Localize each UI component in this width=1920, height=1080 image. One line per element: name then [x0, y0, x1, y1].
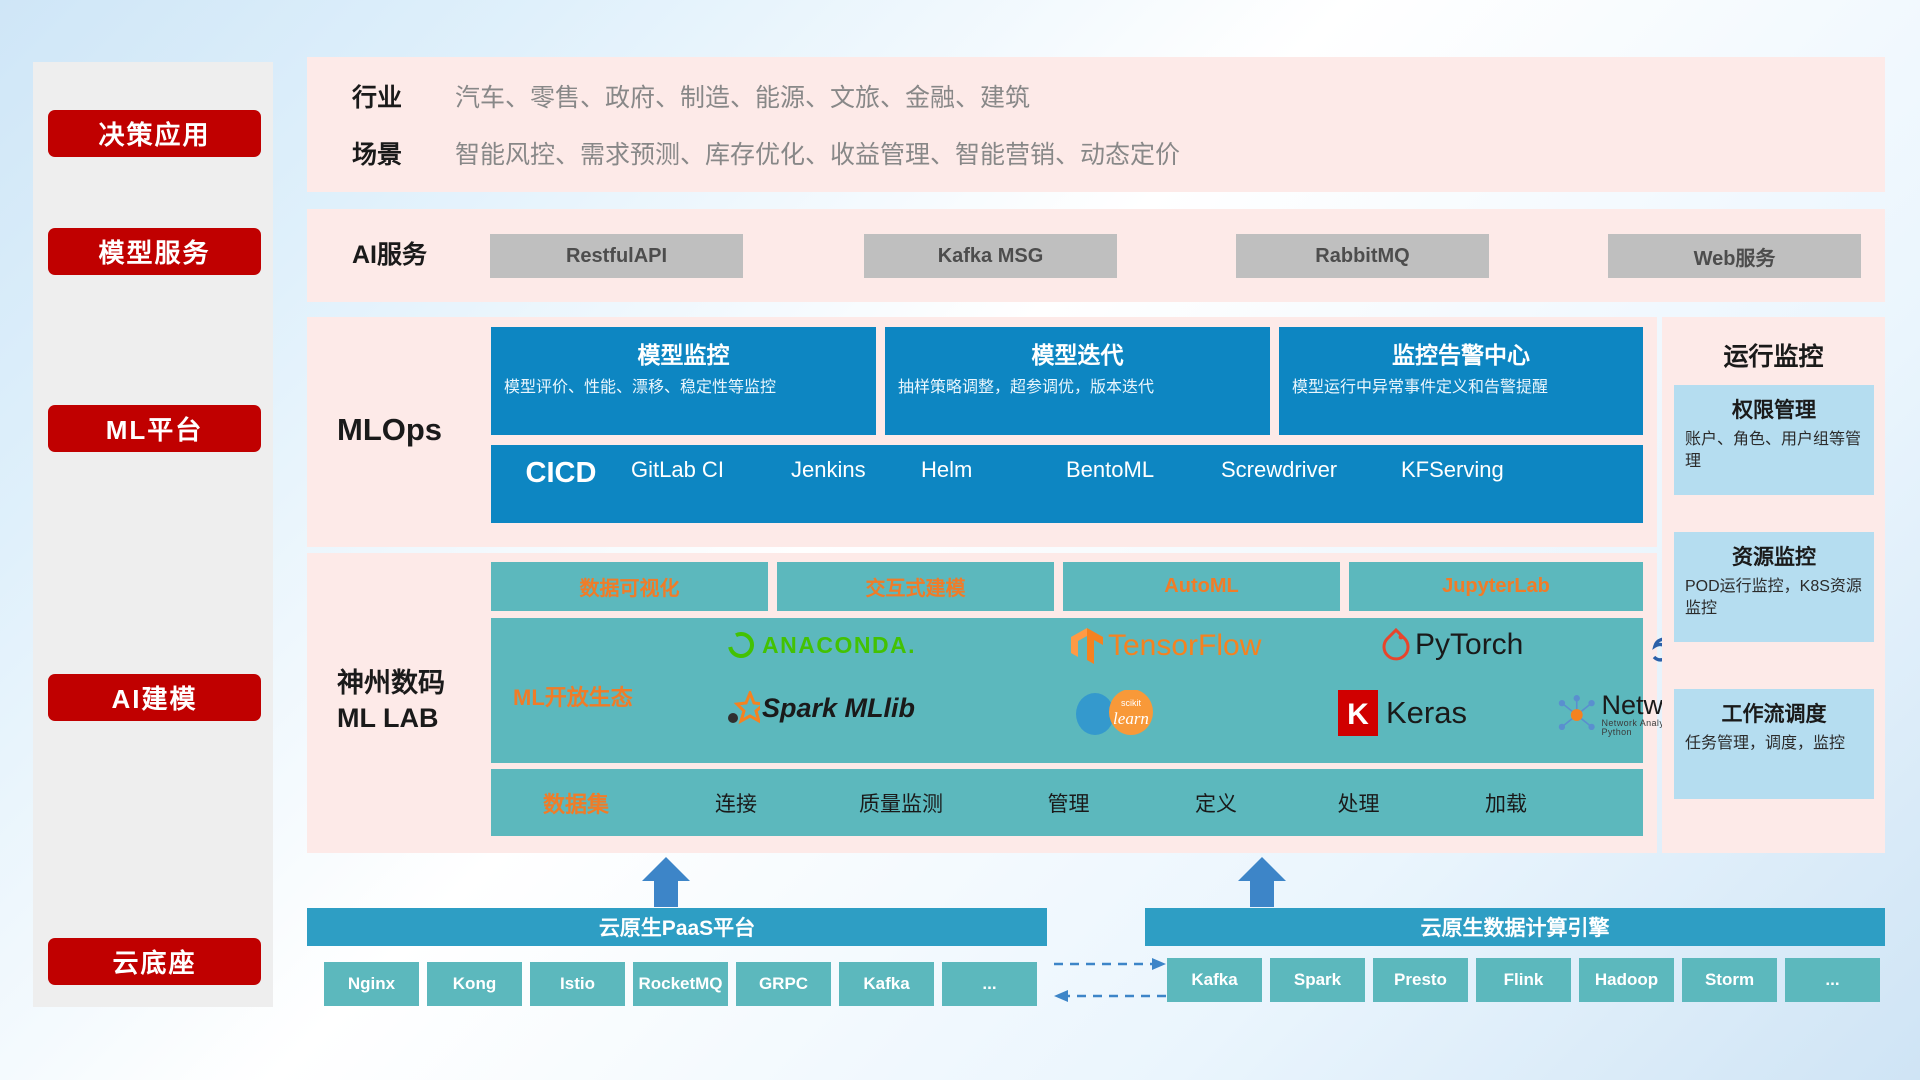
card-title: 监控告警中心 [1292, 336, 1630, 370]
dataset-item-load[interactable]: 加载 [1431, 788, 1581, 818]
ai-service-button-rabbitmq[interactable]: RabbitMQ [1236, 234, 1489, 278]
ml-lab-label-line1: 神州数码 [337, 666, 445, 701]
ml-lab-label-line2: ML LAB [337, 701, 445, 736]
dataset-title: 数据集 [491, 787, 661, 819]
scenario-label: 场景 [352, 136, 402, 175]
card-desc: 模型运行中异常事件定义和告警提醒 [1292, 377, 1630, 400]
ai-service-button-restfulapi[interactable]: RestfulAPI [490, 234, 743, 278]
card-title: 权限管理 [1685, 394, 1863, 424]
monitoring-card-permission[interactable]: 权限管理 账户、角色、用户组等管理 [1674, 385, 1874, 495]
ecosystem-title: ML开放生态 [513, 680, 633, 712]
monitoring-card-workflow[interactable]: 工作流调度 任务管理，调度，监控 [1674, 689, 1874, 799]
chip-label: 交互式建模 [866, 572, 966, 601]
paas-chip-more[interactable]: ... [942, 962, 1037, 1006]
engine-chip-hadoop[interactable]: Hadoop [1579, 958, 1674, 1002]
ml-ecosystem-band: ML开放生态 ANACONDA. TensorFlow [491, 618, 1643, 763]
engine-chip-storm[interactable]: Storm [1682, 958, 1777, 1002]
spark-mllib-label: Spark MLlib [762, 693, 915, 724]
ai-service-panel: AI服务 RestfulAPI Kafka MSG RabbitMQ Web服务 [307, 209, 1885, 302]
monitoring-title: 运行监控 [1662, 337, 1885, 373]
dataset-item-quality[interactable]: 质量监测 [811, 788, 991, 818]
tool-chip-jupyterlab[interactable]: JupyterLab [1349, 562, 1643, 611]
button-label: Web服务 [1694, 242, 1776, 271]
monitoring-card-resource[interactable]: 资源监控 POD运行监控，K8S资源监控 [1674, 532, 1874, 642]
stage-chip-decision[interactable]: 决策应用 [48, 110, 261, 157]
svg-text:scikit: scikit [1121, 698, 1141, 708]
card-desc: 模型评价、性能、漂移、稳定性等监控 [504, 377, 863, 400]
cicd-item-bentoml[interactable]: BentoML [1066, 457, 1221, 482]
ai-service-label: AI服务 [352, 236, 427, 275]
keras-logo: K Keras [1336, 688, 1467, 738]
arrow-up-paas-icon [640, 855, 692, 907]
card-title: 模型迭代 [898, 336, 1257, 370]
anaconda-label: ANACONDA. [762, 632, 916, 659]
paas-chip-grpc[interactable]: GRPC [736, 962, 831, 1006]
stage-label: 云底座 [112, 943, 196, 980]
industry-label: 行业 [352, 79, 402, 118]
paas-bar[interactable]: 云原生PaaS平台 [307, 908, 1047, 946]
stage-chip-ai-modeling[interactable]: AI建模 [48, 674, 261, 721]
mlops-card-model-monitoring[interactable]: 模型监控 模型评价、性能、漂移、稳定性等监控 [491, 327, 876, 435]
stage-label: 模型服务 [98, 233, 210, 270]
stage-rail [33, 62, 273, 1007]
cicd-item-jenkins[interactable]: Jenkins [791, 457, 921, 482]
cicd-item-helm[interactable]: Helm [921, 457, 1066, 482]
tensorflow-label: TensorFlow [1108, 629, 1261, 663]
stage-label: 决策应用 [98, 115, 210, 152]
pytorch-label: PyTorch [1415, 628, 1523, 662]
scenario-text: 智能风控、需求预测、库存优化、收益管理、智能营销、动态定价 [455, 136, 1180, 175]
dataset-item-manage[interactable]: 管理 [991, 788, 1146, 818]
mlops-card-alert-center[interactable]: 监控告警中心 模型运行中异常事件定义和告警提醒 [1279, 327, 1643, 435]
cicd-item-kfserving[interactable]: KFServing [1401, 457, 1551, 482]
svg-text:K: K [1347, 698, 1369, 731]
cicd-item-gitlab-ci[interactable]: GitLab CI [631, 457, 791, 482]
paas-chip-rocketmq[interactable]: RocketMQ [633, 962, 728, 1006]
industry-text: 汽车、零售、政府、制造、能源、文旅、金融、建筑 [455, 79, 1030, 118]
stage-label: AI建模 [111, 679, 197, 716]
tool-chip-automl[interactable]: AutoML [1063, 562, 1340, 611]
architecture-diagram: 决策应用 模型服务 ML平台 AI建模 云底座 行业 汽车、零售、政府、制造、能… [0, 0, 1920, 1080]
button-label: RabbitMQ [1315, 245, 1409, 268]
tool-chip-interactive-modeling[interactable]: 交互式建模 [777, 562, 1054, 611]
stage-chip-ml-platform[interactable]: ML平台 [48, 405, 261, 452]
chip-label: 数据可视化 [580, 572, 680, 601]
mlops-card-model-iteration[interactable]: 模型迭代 抽样策略调整，超参调优，版本迭代 [885, 327, 1270, 435]
paas-chip-kong[interactable]: Kong [427, 962, 522, 1006]
engine-bar[interactable]: 云原生数据计算引擎 [1145, 908, 1885, 946]
ai-service-button-web[interactable]: Web服务 [1608, 234, 1861, 278]
bar-label: 云原生PaaS平台 [599, 912, 755, 942]
chip-label: JupyterLab [1442, 575, 1550, 598]
stage-chip-cloud-base[interactable]: 云底座 [48, 938, 261, 985]
engine-chip-flink[interactable]: Flink [1476, 958, 1571, 1002]
card-title: 模型监控 [504, 336, 863, 370]
bar-label: 云原生数据计算引擎 [1421, 912, 1610, 942]
chip-label: AutoML [1164, 575, 1238, 598]
card-title: 资源监控 [1685, 541, 1863, 571]
dataset-band: 数据集 连接 质量监测 管理 定义 处理 加载 [491, 769, 1643, 836]
monitoring-panel: 运行监控 权限管理 账户、角色、用户组等管理 资源监控 POD运行监控，K8S资… [1662, 317, 1885, 853]
svg-text:learn: learn [1113, 709, 1149, 728]
cicd-item-screwdriver[interactable]: Screwdriver [1221, 457, 1401, 482]
pytorch-logo: PyTorch [1381, 628, 1523, 662]
business-panel: 行业 汽车、零售、政府、制造、能源、文旅、金融、建筑 场景 智能风控、需求预测、… [307, 57, 1885, 192]
card-desc: 任务管理，调度，监控 [1685, 733, 1863, 755]
card-desc: 账户、角色、用户组等管理 [1685, 429, 1863, 474]
paas-chip-nginx[interactable]: Nginx [324, 962, 419, 1006]
mlops-label: MLOps [337, 412, 442, 448]
stage-label: ML平台 [106, 410, 204, 447]
dashed-connector-arrows [1050, 950, 1170, 1010]
paas-chip-istio[interactable]: Istio [530, 962, 625, 1006]
tool-chip-data-visualization[interactable]: 数据可视化 [491, 562, 768, 611]
engine-chip-kafka[interactable]: Kafka [1167, 958, 1262, 1002]
ml-lab-label: 神州数码 ML LAB [337, 666, 445, 736]
paas-chip-kafka[interactable]: Kafka [839, 962, 934, 1006]
anaconda-logo: ANACONDA. [726, 630, 916, 660]
cicd-label: CICD [491, 457, 631, 490]
engine-chip-spark[interactable]: Spark [1270, 958, 1365, 1002]
engine-chip-more[interactable]: ... [1785, 958, 1880, 1002]
engine-chip-presto[interactable]: Presto [1373, 958, 1468, 1002]
card-desc: POD运行监控，K8S资源监控 [1685, 576, 1863, 621]
scikit-learn-logo: scikit learn [1069, 690, 1179, 736]
cicd-bar: CICD GitLab CI Jenkins Helm BentoML Scre… [491, 445, 1643, 523]
mlops-panel: MLOps 模型监控 模型评价、性能、漂移、稳定性等监控 模型迭代 抽样策略调整… [307, 317, 1657, 547]
ml-lab-panel: 神州数码 ML LAB 数据可视化 交互式建模 AutoML JupyterLa… [307, 553, 1657, 853]
dataset-item-process[interactable]: 处理 [1286, 788, 1431, 818]
ai-service-button-kafka-msg[interactable]: Kafka MSG [864, 234, 1117, 278]
dataset-item-define[interactable]: 定义 [1146, 788, 1286, 818]
button-label: RestfulAPI [566, 245, 667, 268]
button-label: Kafka MSG [938, 245, 1044, 268]
arrow-up-engine-icon [1236, 855, 1288, 907]
stage-chip-model-service[interactable]: 模型服务 [48, 228, 261, 275]
card-desc: 抽样策略调整，超参调优，版本迭代 [898, 377, 1257, 400]
spark-mllib-logo: Spark MLlib [726, 691, 915, 725]
dataset-item-connect[interactable]: 连接 [661, 788, 811, 818]
card-title: 工作流调度 [1685, 698, 1863, 728]
tensorflow-logo: TensorFlow [1069, 626, 1261, 666]
keras-label: Keras [1386, 695, 1467, 731]
